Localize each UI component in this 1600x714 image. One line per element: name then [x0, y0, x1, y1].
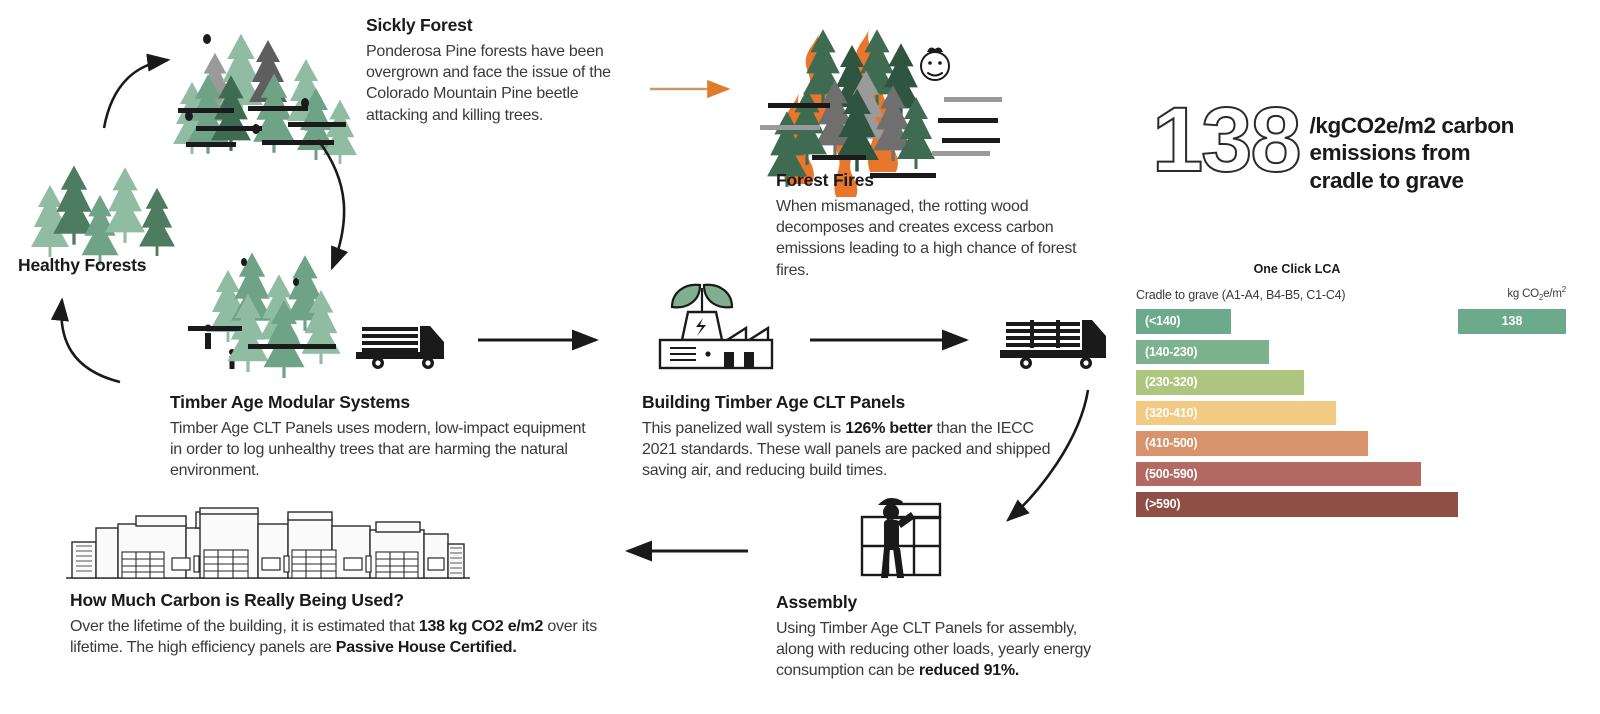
- chart-xlabel: Cradle to grave (A1-A4, B4-B5, C1-C4): [1136, 288, 1345, 302]
- panel-delivery-truck-icon: [1000, 320, 1106, 369]
- logging-truck-icon: [356, 326, 444, 369]
- chart-bar: (500-590): [1136, 462, 1421, 487]
- chart-bar: (140-230): [1136, 340, 1269, 365]
- chart-bars: (<140)(140-230)(230-320)(320-410)(410-50…: [1136, 309, 1566, 517]
- assembly-body-bold1: reduced 91%.: [919, 662, 1019, 679]
- hero-line-2: emissions from: [1310, 139, 1515, 166]
- carbon-used-body-p1: Over the lifetime of the building, it is…: [70, 618, 419, 635]
- sickly-forest-body: Ponderosa Pine forests have been overgro…: [366, 41, 634, 126]
- chart-bar: (<140): [1136, 309, 1231, 334]
- chart-unit-label: kg CO2e/m2: [1507, 285, 1566, 302]
- chart-axis-labels: Cradle to grave (A1-A4, B4-B5, C1-C4) kg…: [1136, 285, 1566, 302]
- carbon-used-block: How Much Carbon is Really Being Used? Ov…: [70, 590, 650, 658]
- timber-age-block: Timber Age Modular Systems Timber Age CL…: [170, 392, 600, 482]
- arrow-healthy-to-sickly: [104, 60, 168, 128]
- forest-fires-heading: Forest Fires: [776, 170, 1106, 192]
- assembly-heading: Assembly: [776, 592, 1116, 614]
- chart-bar: (410-500): [1136, 431, 1368, 456]
- unit-suffix: e/m: [1543, 288, 1562, 300]
- hero-line-1: /kgCO2e/m2 carbon: [1310, 112, 1515, 139]
- worker-assembling-panels-icon: [862, 498, 940, 578]
- timber-age-heading: Timber Age Modular Systems: [170, 392, 600, 414]
- building-elevation-icon: [66, 508, 470, 578]
- sickly-forest-icon: [173, 34, 357, 164]
- managed-forest-icon: [188, 253, 341, 379]
- unit-sup: 2: [1562, 285, 1566, 294]
- hero-number: 138: [1152, 98, 1300, 183]
- building-panels-body: This panelized wall system is 126% bette…: [642, 418, 1052, 482]
- assembly-block: Assembly Using Timber Age CLT Panels for…: [776, 592, 1116, 682]
- sad-face-icon: [921, 48, 949, 80]
- arrow-timber-to-healthy: [61, 300, 120, 382]
- building-panels-body-bold1: 126% better: [845, 420, 932, 437]
- eco-factory-icon: [660, 285, 772, 368]
- healthy-forest-icon: [31, 166, 175, 266]
- building-panels-block: Building Timber Age CLT Panels This pane…: [642, 392, 1052, 482]
- carbon-used-body: Over the lifetime of the building, it is…: [70, 616, 650, 659]
- carbon-used-body-bold1: 138 kg CO2 e/m2: [419, 618, 543, 635]
- carbon-used-heading: How Much Carbon is Really Being Used?: [70, 590, 650, 612]
- building-panels-heading: Building Timber Age CLT Panels: [642, 392, 1052, 414]
- forest-fires-block: Forest Fires When mismanaged, the rottin…: [776, 170, 1106, 281]
- chart-bar: (320-410): [1136, 401, 1336, 426]
- logging-figures-icon: [205, 325, 236, 370]
- hero-stat: 138 /kgCO2e/m2 carbon emissions from cra…: [1152, 98, 1514, 194]
- carbon-used-body-bold2: Passive House Certified.: [336, 639, 517, 656]
- assembly-body: Using Timber Age CLT Panels for assembly…: [776, 618, 1116, 682]
- building-panels-body-p1: This panelized wall system is: [642, 420, 845, 437]
- one-click-lca-chart: One Click LCA Cradle to grave (A1-A4, B4…: [1136, 262, 1566, 523]
- healthy-forests-label: Healthy Forests: [18, 255, 198, 276]
- hero-text: /kgCO2e/m2 carbon emissions from cradle …: [1310, 112, 1515, 194]
- chart-bar: (230-320): [1136, 370, 1304, 395]
- forest-fires-body: When mismanaged, the rotting wood decomp…: [776, 196, 1106, 281]
- healthy-forests-label-block: Healthy Forests: [18, 255, 198, 276]
- unit-prefix: kg CO: [1507, 288, 1539, 300]
- chart-value-badge: 138: [1458, 309, 1566, 334]
- chart-bar: (>590): [1136, 492, 1458, 517]
- sickly-forest-block: Sickly Forest Ponderosa Pine forests hav…: [366, 15, 634, 126]
- hero-line-3: cradle to grave: [1310, 167, 1515, 194]
- arrow-sickly-to-timber: [318, 140, 344, 268]
- chart-title: One Click LCA: [1136, 262, 1458, 276]
- sickly-forest-heading: Sickly Forest: [366, 15, 634, 37]
- timber-age-body: Timber Age CLT Panels uses modern, low-i…: [170, 418, 600, 482]
